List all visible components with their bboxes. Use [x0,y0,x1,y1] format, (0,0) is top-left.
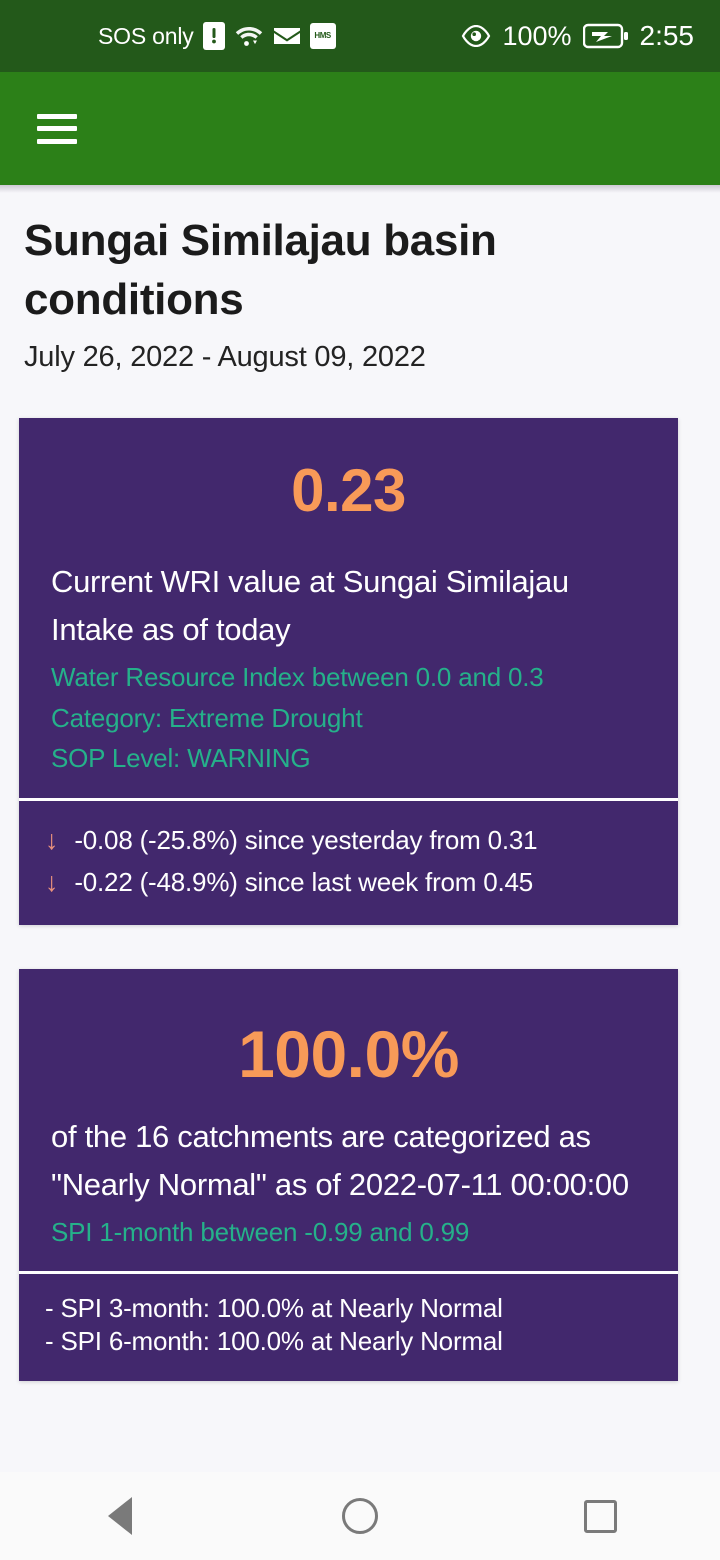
home-circle-shape [342,1498,378,1534]
page-title: Sungai Similajau basin conditions [0,185,620,329]
spi-description: of the 16 catchments are categorized as … [51,1113,646,1209]
wri-card[interactable]: 0.23 Current WRI value at Sungai Similaj… [19,418,678,925]
recents-square-shape [584,1500,617,1533]
arrow-down-icon: ↓ [45,827,58,854]
status-bar-left: SOS only HMS [98,22,336,50]
wri-metric-value: 0.23 [51,458,646,524]
hamburger-line [37,114,77,119]
recents-square-icon[interactable] [545,1472,655,1560]
spi-card-footer: - SPI 3-month: 100.0% at Nearly Normal -… [19,1274,678,1381]
home-circle-icon[interactable] [305,1472,415,1560]
status-bar-right: 100% 2:55 [461,20,694,52]
back-triangle-shape [108,1497,132,1535]
page-content: Sungai Similajau basin conditions July 2… [0,185,720,1381]
spi-3month-line: - SPI 3-month: 100.0% at Nearly Normal [45,1292,652,1325]
wri-change-lastweek: ↓ -0.22 (-48.9%) since last week from 0.… [45,861,652,903]
wri-note-sop-level: SOP Level: WARNING [51,742,646,776]
wri-card-footer: ↓ -0.08 (-25.8%) since yesterday from 0.… [19,801,678,925]
hamburger-menu-icon[interactable] [37,114,77,144]
wri-note-index-range: Water Resource Index between 0.0 and 0.3 [51,661,646,695]
spi-card[interactable]: 100.0% of the 16 catchments are categori… [19,969,678,1381]
battery-charging-icon [583,23,629,49]
page-date-range: July 26, 2022 - August 09, 2022 [0,329,720,374]
spi-note-range: SPI 1-month between -0.99 and 0.99 [51,1216,646,1250]
hamburger-line [37,139,77,144]
hms-badge-icon: HMS [310,23,336,49]
wri-change-lastweek-text: -0.22 (-48.9%) since last week from 0.45 [74,861,533,903]
app-bar [0,72,720,185]
eye-icon [461,25,491,47]
hamburger-line [37,126,77,131]
wri-card-body: 0.23 Current WRI value at Sungai Similaj… [19,418,678,798]
spi-metric-value: 100.0% [51,1018,646,1091]
back-triangle-icon[interactable] [65,1472,175,1560]
spi-card-body: 100.0% of the 16 catchments are categori… [19,969,678,1271]
wri-note-category: Category: Extreme Drought [51,702,646,736]
wri-change-yesterday-text: -0.08 (-25.8%) since yesterday from 0.31 [74,819,537,861]
spi-6month-line: - SPI 6-month: 100.0% at Nearly Normal [45,1325,652,1358]
carrier-label: SOS only [98,23,194,50]
battery-percent-label: 100% [502,21,571,52]
android-navigation-bar [0,1472,720,1560]
envelope-icon [273,25,301,47]
wifi-icon [234,23,264,49]
arrow-down-icon: ↓ [45,869,58,896]
alert-exclamation-icon [203,22,225,50]
status-bar: SOS only HMS 100% 2: [0,0,720,72]
wri-description: Current WRI value at Sungai Similajau In… [51,558,646,654]
wri-change-yesterday: ↓ -0.08 (-25.8%) since yesterday from 0.… [45,819,652,861]
clock-label: 2:55 [640,20,695,52]
